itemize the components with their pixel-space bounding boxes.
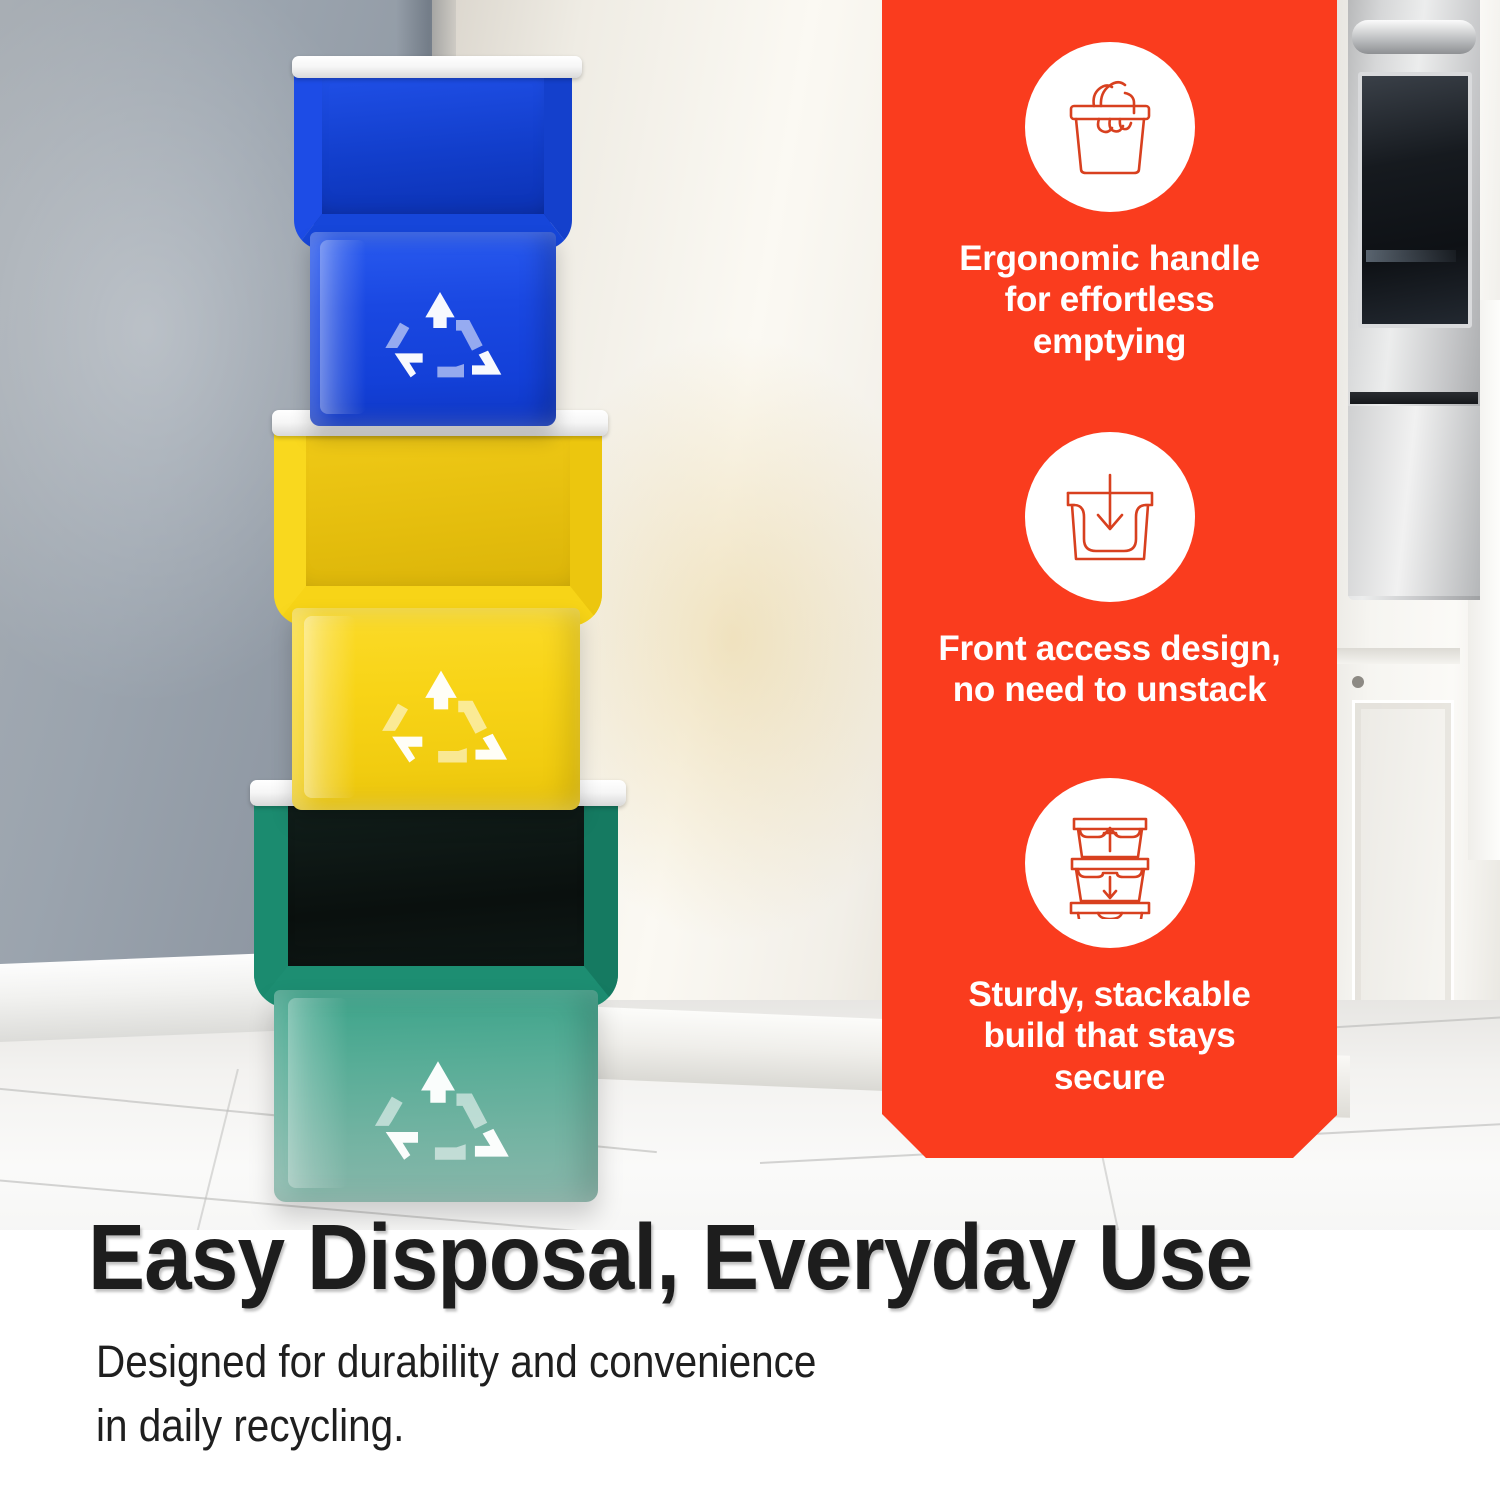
hand-grabbing-bin-icon	[1025, 42, 1195, 212]
subtitle-line-2: in daily recycling.	[96, 1394, 996, 1458]
bin-green-mouth	[264, 800, 608, 990]
stacked-bins	[250, 40, 630, 1180]
recycle-symbol-yellow	[368, 662, 514, 774]
subtitle-line-1: Designed for durability and convenience	[96, 1330, 996, 1394]
cabinet-rail	[1336, 648, 1460, 664]
feature-front-access: Front access design, no need to unstack	[882, 432, 1337, 711]
feature-1-label: Ergonomic handle for effortless emptying	[882, 238, 1337, 362]
stacked-bins-arrows-icon	[1025, 778, 1195, 948]
product-infographic: Ergonomic handle for effortless emptying…	[0, 0, 1500, 1500]
oven-handle	[1352, 20, 1476, 54]
bin-yellow-mouth	[286, 430, 586, 608]
arrow-into-bin-icon	[1025, 432, 1195, 602]
cabinet-knob	[1352, 676, 1364, 688]
oven-lower-panel	[1348, 406, 1480, 596]
feature-3-label: Sturdy, stackable build that stays secur…	[882, 974, 1337, 1098]
bin-blue-handle	[292, 56, 582, 78]
feature-stackable: Sturdy, stackable build that stays secur…	[882, 778, 1337, 1098]
page-subtitle: Designed for durability and convenience …	[96, 1330, 996, 1458]
page-title: Easy Disposal, Everyday Use	[88, 1212, 1302, 1303]
bin-blue-mouth	[306, 74, 556, 232]
oven-seam	[1350, 392, 1478, 404]
recycle-symbol-green	[360, 1052, 516, 1172]
oven-glass-window	[1358, 72, 1472, 328]
cabinet-panel	[1352, 700, 1454, 1036]
oven-glass-reflection	[1366, 250, 1456, 262]
feature-2-label: Front access design, no need to unstack	[882, 628, 1337, 711]
features-panel: Ergonomic handle for effortless emptying…	[882, 0, 1337, 1158]
feature-ergonomic-handle: Ergonomic handle for effortless emptying	[882, 42, 1337, 362]
recycle-symbol-blue	[372, 284, 508, 388]
